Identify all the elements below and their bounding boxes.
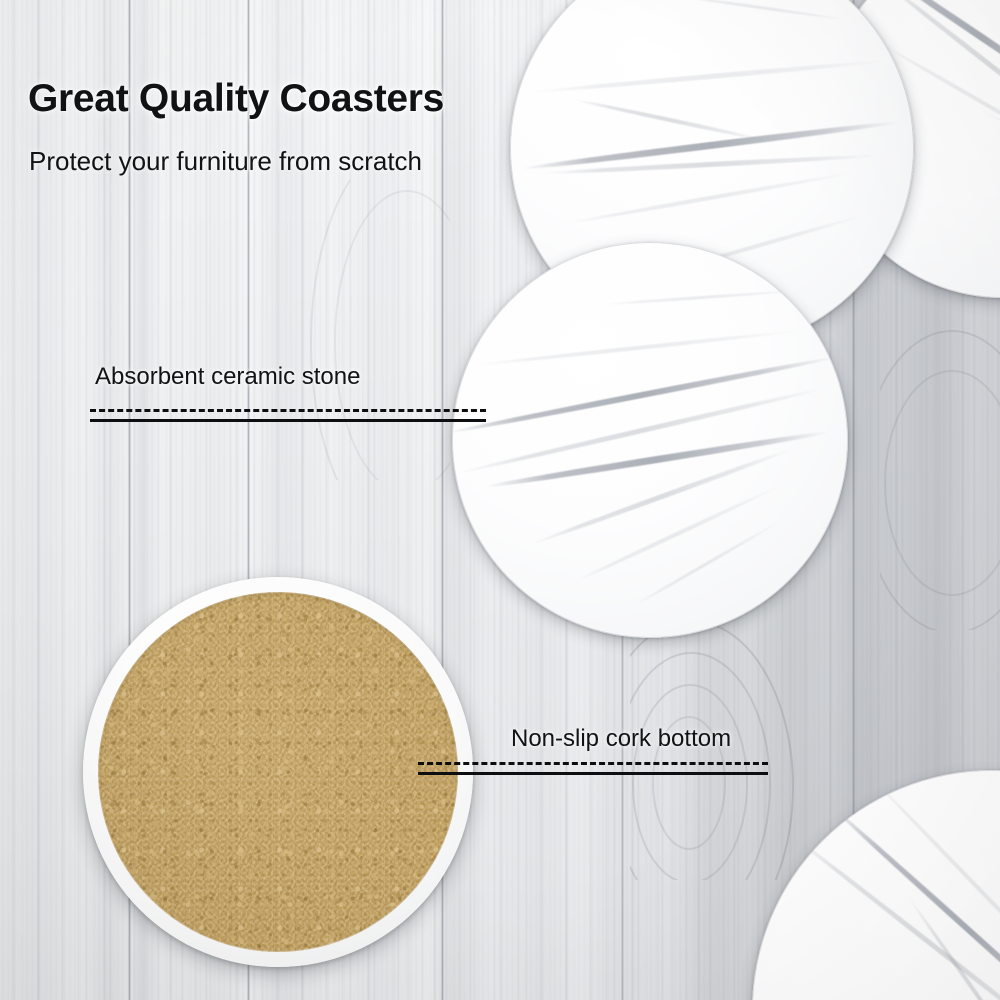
- callout-non-slip-cork-bottom: Non-slip cork bottom: [0, 0, 1000, 1000]
- callout-label-cork: Non-slip cork bottom: [511, 725, 731, 753]
- callout-dashed-line-cork: [418, 762, 768, 765]
- callout-solid-line-cork: [418, 772, 768, 775]
- product-image-canvas: Great Quality Coasters Protect your furn…: [0, 0, 1000, 1000]
